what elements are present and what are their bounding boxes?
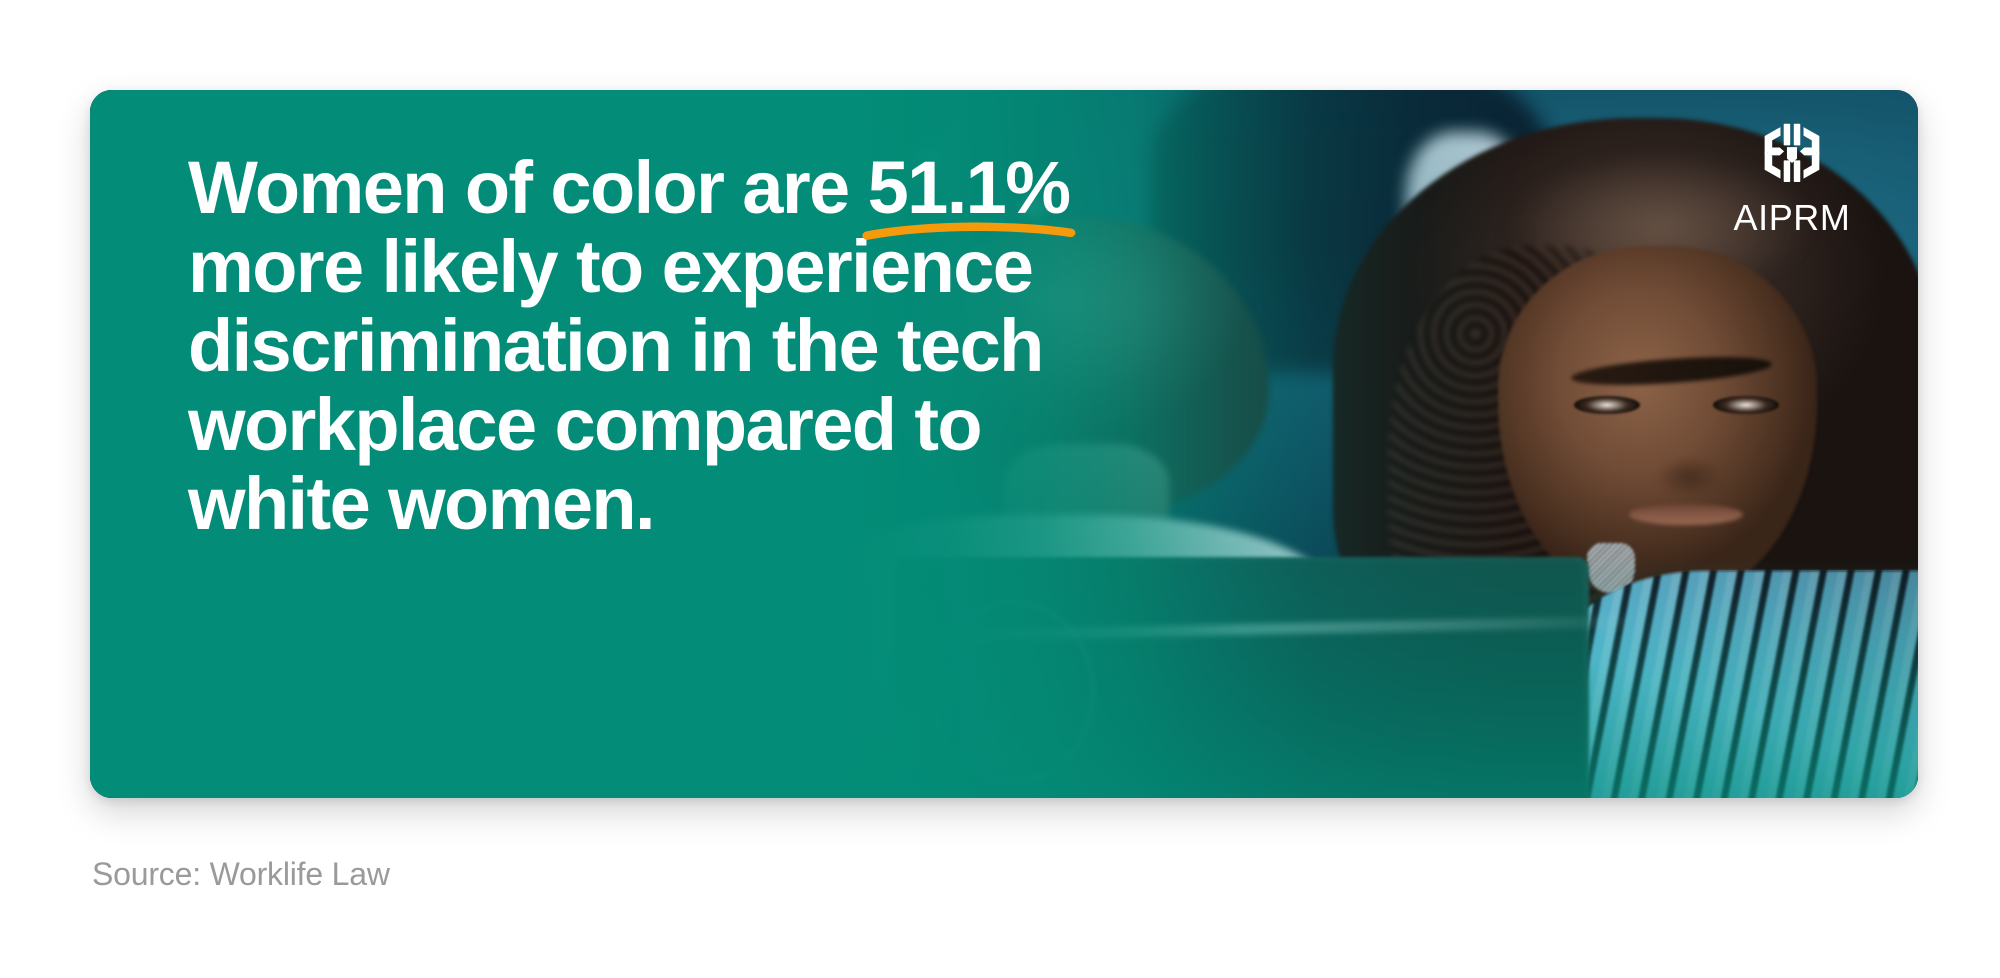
headline-line-1: Women of color are 51.1% — [188, 148, 1188, 227]
headline-lead-text: Women of color are — [188, 146, 868, 229]
headline-line-4: workplace compared to — [188, 385, 1188, 464]
aiprm-hex-cube-icon — [1756, 114, 1828, 192]
source-attribution: Source: Worklife Law — [92, 856, 390, 893]
stat-value: 51.1% — [868, 146, 1070, 229]
aiprm-wordmark: AIPRM — [1733, 200, 1850, 236]
stat-highlight: 51.1% — [868, 148, 1070, 227]
teal-bottom-fade — [90, 557, 1918, 798]
stat-card: Women of color are 51.1% more likely to … — [90, 90, 1918, 798]
infographic-stage: Women of color are 51.1% more likely to … — [0, 0, 2000, 978]
aiprm-logo[interactable]: AIPRM — [1726, 114, 1858, 236]
headline-line-2: more likely to experience — [188, 227, 1188, 306]
headline: Women of color are 51.1% more likely to … — [188, 148, 1188, 543]
headline-line-5: white women. — [188, 464, 1188, 543]
headline-line-3: discrimination in the tech — [188, 306, 1188, 385]
